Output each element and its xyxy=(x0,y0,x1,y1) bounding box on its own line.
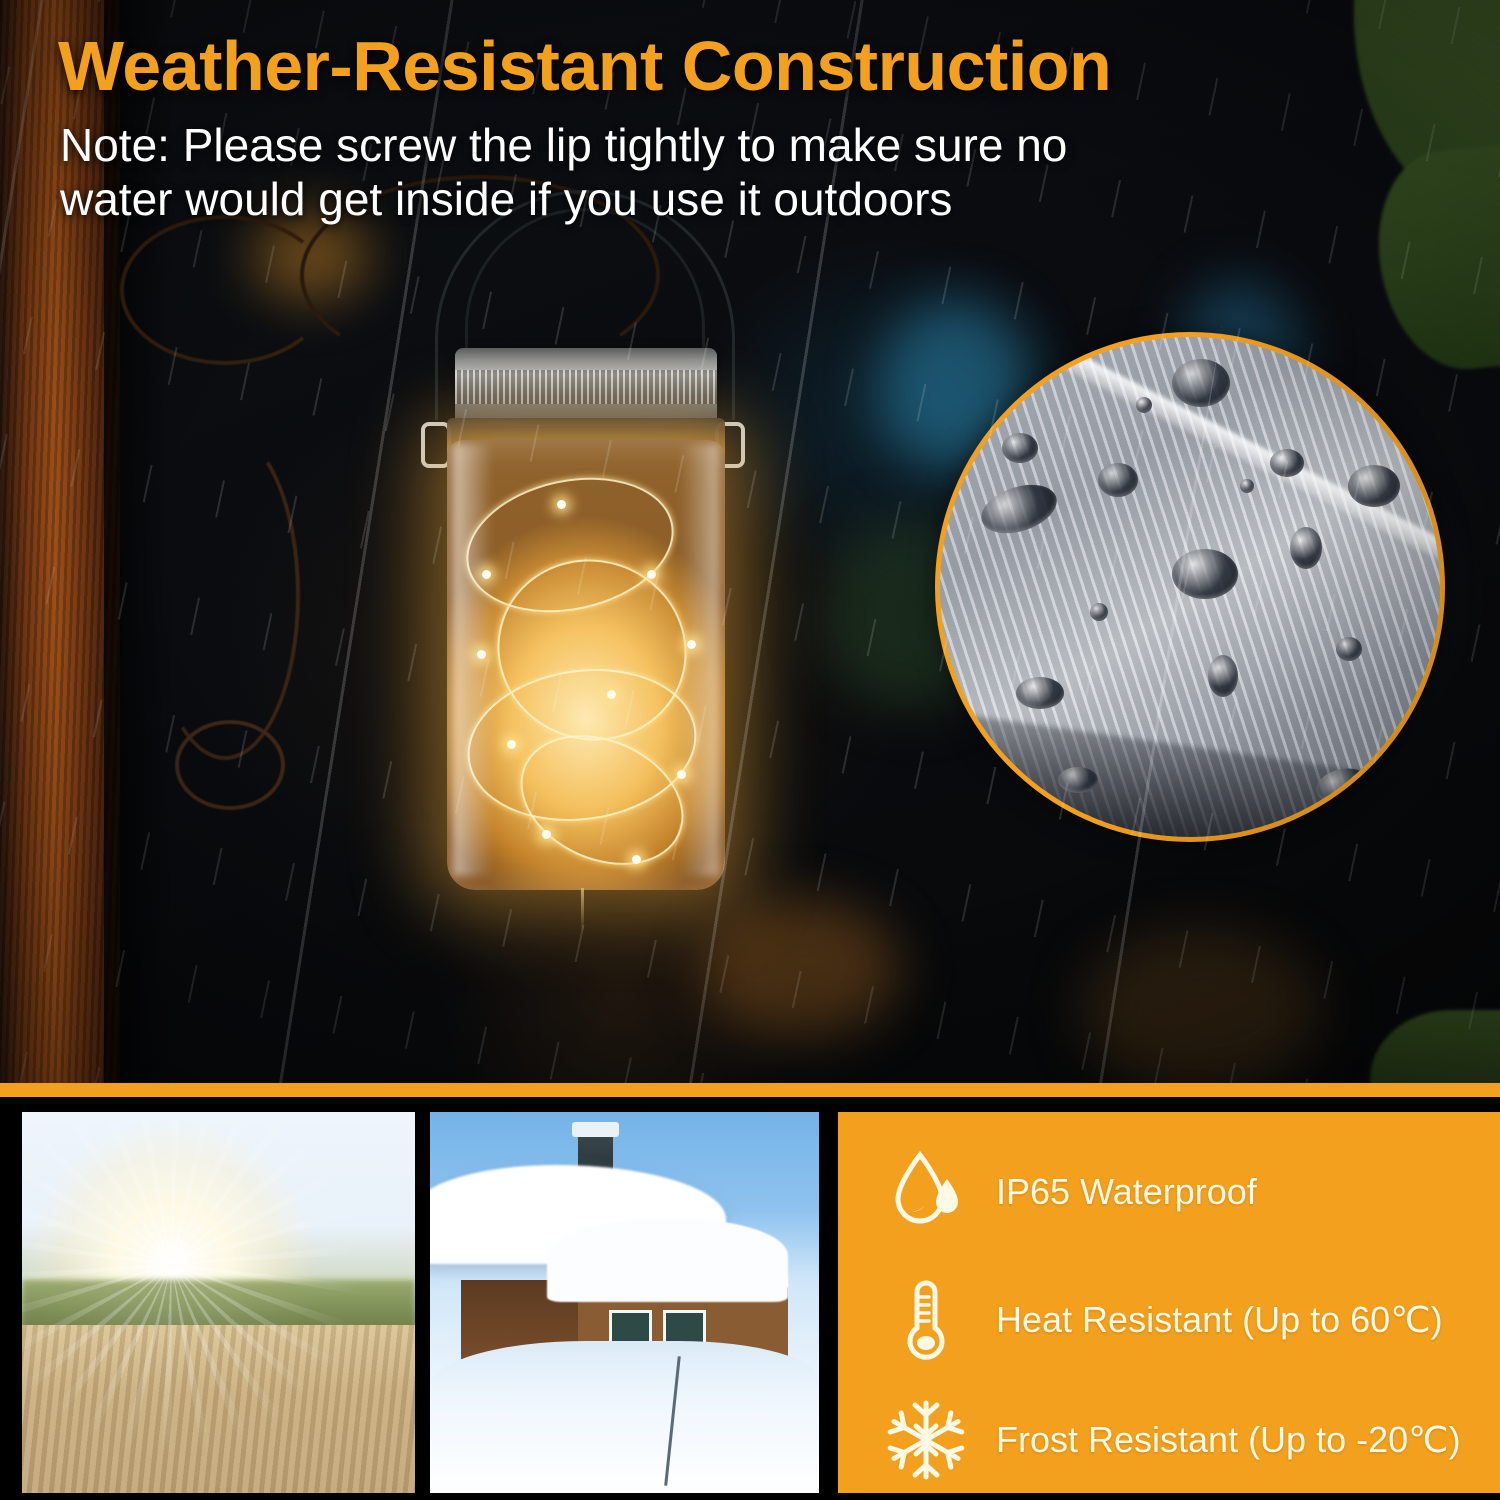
feature-label: Frost Resistant (Up to -20℃) xyxy=(996,1419,1461,1461)
feature-label: Heat Resistant (Up to 60℃) xyxy=(996,1299,1443,1341)
led-light xyxy=(507,740,516,749)
vine-curl-2 xyxy=(150,430,300,760)
waterdrop-macro-inset xyxy=(935,332,1445,842)
water-drop xyxy=(1270,449,1304,477)
vine-curl-3 xyxy=(175,720,285,810)
hero-note-line2: water would get inside if you use it out… xyxy=(60,172,1190,226)
water-drop xyxy=(1098,463,1138,497)
snow-scene xyxy=(430,1112,819,1493)
thermometer-icon xyxy=(878,1275,974,1365)
water-drop xyxy=(1002,433,1038,463)
sunny-scene xyxy=(22,1112,415,1493)
bokeh-warm-3 xyxy=(1080,930,1320,1085)
thumbnail-snow-cabin xyxy=(430,1112,819,1493)
led-light xyxy=(632,855,641,864)
feature-row-heat-resistant: Heat Resistant (Up to 60℃) xyxy=(838,1260,1500,1380)
hanging-cord xyxy=(581,888,584,932)
jar-glass-body xyxy=(447,440,725,890)
water-drop xyxy=(1208,655,1238,697)
water-drop xyxy=(1136,397,1152,413)
bottom-strip: IP65 Waterproof Heat Resi xyxy=(0,1097,1500,1500)
jar-lid xyxy=(455,348,717,426)
hero-note-line1: Note: Please screw the lip tightly to ma… xyxy=(60,118,1190,172)
water-drop xyxy=(1090,603,1108,621)
water-drop xyxy=(1240,479,1254,493)
led-light xyxy=(557,500,566,509)
water-drop xyxy=(1290,527,1322,569)
chimney-snow-cap xyxy=(572,1122,619,1137)
snowflake-icon xyxy=(878,1397,974,1483)
led-light xyxy=(607,690,616,699)
water-drop xyxy=(1348,465,1400,507)
features-panel: IP65 Waterproof Heat Resi xyxy=(838,1112,1500,1493)
led-light xyxy=(542,830,551,839)
lid-ribs xyxy=(455,370,717,404)
jar-gloss-left xyxy=(453,444,493,876)
feature-row-waterproof: IP65 Waterproof xyxy=(838,1132,1500,1252)
thumbnail-sunny-dirt-road xyxy=(22,1112,415,1493)
leaf-icon-lower xyxy=(1370,1010,1500,1085)
page-title: Weather-Resistant Construction xyxy=(58,26,1111,106)
water-drop xyxy=(1172,359,1230,407)
water-drop xyxy=(1058,767,1098,793)
vine-curl-1 xyxy=(120,215,330,365)
led-light xyxy=(647,570,656,579)
hero-note: Note: Please screw the lip tightly to ma… xyxy=(60,118,1190,227)
water-drop xyxy=(1016,677,1064,709)
feature-label: IP65 Waterproof xyxy=(996,1171,1257,1213)
marketing-image: Weather-Resistant Construction Note: Ple… xyxy=(0,0,1500,1500)
water-droplet-icon xyxy=(878,1149,974,1235)
jar-gloss-right xyxy=(679,444,719,876)
feature-row-frost-resistant: Frost Resistant (Up to -20℃) xyxy=(838,1380,1500,1500)
orange-divider-bar xyxy=(0,1083,1500,1097)
sun-rays xyxy=(22,1112,415,1493)
snow-drift xyxy=(430,1341,819,1493)
hero-scene: Weather-Resistant Construction Note: Ple… xyxy=(0,0,1500,1085)
mason-jar-product xyxy=(395,190,775,930)
water-drop xyxy=(1336,637,1362,661)
cabin-roof-front xyxy=(547,1219,788,1303)
water-drop xyxy=(1172,549,1238,599)
